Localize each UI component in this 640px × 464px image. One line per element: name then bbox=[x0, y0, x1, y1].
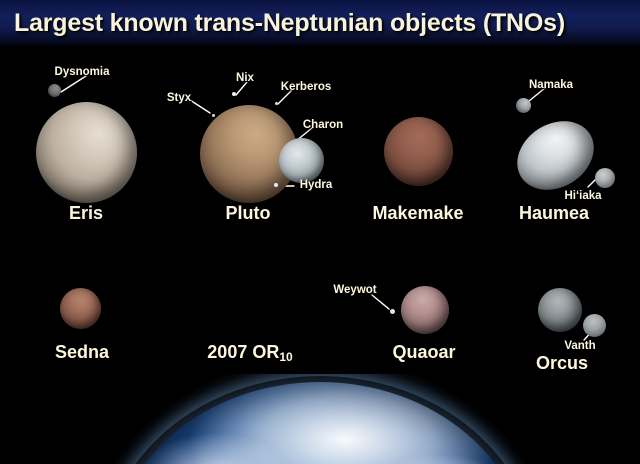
page-title: Largest known trans-Neptunian objects (T… bbox=[0, 9, 565, 38]
moon-label-hydra: Hydra bbox=[300, 179, 333, 191]
moon-vanth bbox=[583, 314, 606, 337]
body-quaoar bbox=[401, 286, 449, 334]
moon-label-styx: Styx bbox=[167, 92, 191, 104]
title-banner: Largest known trans-Neptunian objects (T… bbox=[0, 0, 640, 47]
object-label-haumea: Haumea bbox=[519, 203, 589, 224]
moon-weywot bbox=[390, 309, 395, 314]
body-orcus bbox=[538, 288, 582, 332]
object-label-pluto: Pluto bbox=[226, 203, 271, 224]
moon-label-kerberos: Kerberos bbox=[281, 81, 332, 93]
tno-poster: Largest known trans-Neptunian objects (T… bbox=[0, 0, 640, 464]
moon-kerberos bbox=[275, 102, 278, 105]
body-sedna bbox=[60, 288, 101, 329]
moon-label-weywot: Weywot bbox=[333, 284, 376, 296]
moon-label-charon: Charon bbox=[303, 119, 343, 131]
moon-nix bbox=[232, 92, 236, 96]
object-label-makemake: Makemake bbox=[372, 203, 463, 224]
object-label-eris: Eris bbox=[69, 203, 103, 224]
moon-charon bbox=[279, 138, 324, 183]
moon-styx bbox=[212, 114, 215, 117]
moon-namaka bbox=[516, 98, 531, 113]
moon-dysnomia bbox=[48, 84, 61, 97]
moon-label-vanth: Vanth bbox=[564, 340, 595, 352]
or10-base: 2007 OR bbox=[207, 342, 279, 362]
object-label-orcus: Orcus bbox=[536, 353, 588, 374]
object-label-sedna: Sedna bbox=[55, 342, 109, 363]
moon-label-hiiaka: Hi‘iaka bbox=[564, 190, 601, 202]
body-makemake bbox=[384, 117, 453, 186]
leader-styx bbox=[190, 100, 210, 113]
object-label-quaoar: Quaoar bbox=[392, 342, 455, 363]
body-eris bbox=[36, 102, 137, 203]
moon-label-nix: Nix bbox=[236, 72, 254, 84]
moon-label-namaka: Namaka bbox=[529, 79, 573, 91]
leader-dysnomia bbox=[61, 76, 86, 92]
moon-hiiaka bbox=[595, 168, 615, 188]
earth-limb bbox=[0, 374, 640, 464]
moon-hydra bbox=[274, 183, 278, 187]
moon-label-dysnomia: Dysnomia bbox=[55, 66, 110, 78]
leader-weywot bbox=[372, 295, 389, 309]
or10-subscript: 10 bbox=[279, 350, 292, 364]
object-label-2007-or10: 2007 OR10 bbox=[207, 342, 292, 364]
body-2007-or10 bbox=[213, 275, 275, 337]
